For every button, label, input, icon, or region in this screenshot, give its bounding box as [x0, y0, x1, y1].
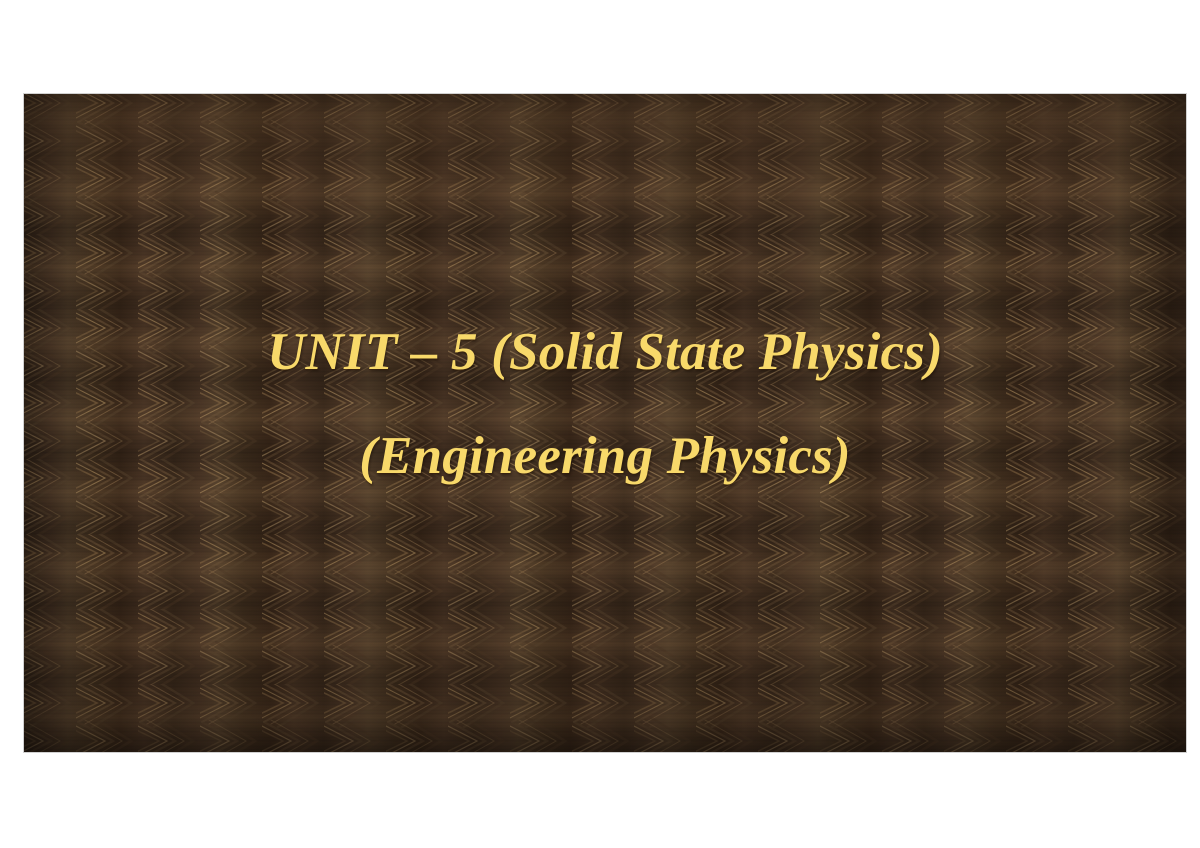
slide-canvas: UNIT – 5 (Solid State Physics) (Engineer…	[24, 94, 1186, 752]
slide-title-block: UNIT – 5 (Solid State Physics) (Engineer…	[24, 326, 1186, 483]
slide-subtitle-line-2: (Engineering Physics)	[24, 430, 1186, 483]
slide-title-line-1: UNIT – 5 (Solid State Physics)	[24, 326, 1186, 379]
